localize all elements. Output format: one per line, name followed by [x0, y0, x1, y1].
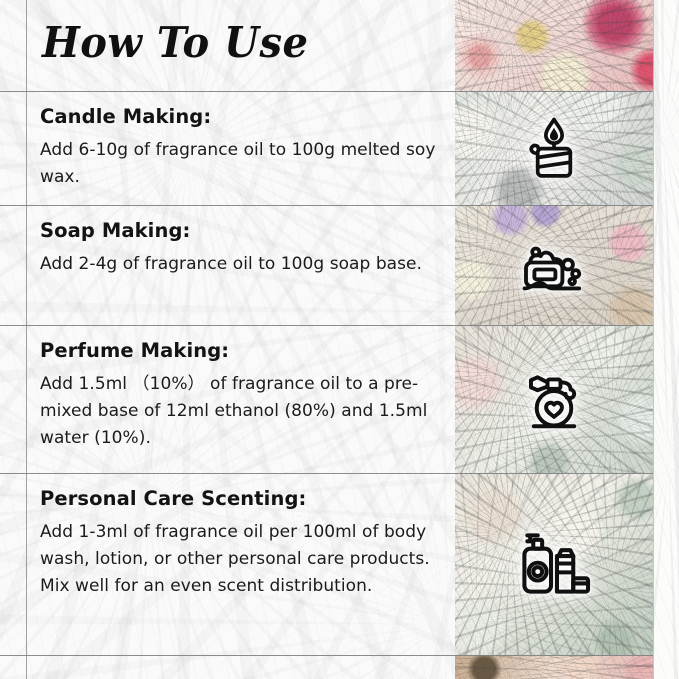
section-body: Add 6-10g of fragrance oil to 100g melte…: [40, 137, 444, 191]
how-to-use-poster: How To Use Candle Making: Add 6-10g of f…: [0, 0, 679, 679]
section-body: Add 1.5ml （10%） of fragrance oil to a pr…: [40, 371, 444, 452]
floral-photo-strip: [455, 0, 653, 679]
section-personal-care-scenting: Personal Care Scenting: Add 1-3ml of fra…: [26, 473, 455, 655]
instructions-column: How To Use Candle Making: Add 6-10g of f…: [26, 0, 455, 679]
section-body: Add 2-4g of fragrance oil to 100g soap b…: [40, 251, 444, 278]
page-title: How To Use: [42, 18, 308, 68]
personal-care-bottles-icon: [511, 519, 597, 605]
photo-cell-roses: [455, 0, 653, 91]
candle-icon: [511, 105, 597, 191]
section-soap-making: Soap Making: Add 2-4g of fragrance oil t…: [26, 205, 455, 325]
floral-art-roses: [455, 0, 653, 91]
right-edge-pattern: [653, 0, 679, 679]
soap-bar-icon: [511, 223, 597, 309]
photo-cell-perfume: [455, 325, 653, 473]
right-vertical-rule: [653, 0, 654, 679]
photo-cell-footer: [455, 655, 653, 679]
section-candle-making: Candle Making: Add 6-10g of fragrance oi…: [26, 91, 455, 205]
photo-cell-personal-care: [455, 473, 653, 655]
photo-cell-soap: [455, 205, 653, 325]
section-body: Add 1-3ml of fragrance oil per 100ml of …: [40, 519, 444, 600]
section-heading: Soap Making:: [40, 219, 190, 242]
photo-cell-candle: [455, 91, 653, 205]
floral-art-footer: [455, 655, 653, 679]
section-heading: Personal Care Scenting:: [40, 487, 306, 510]
section-heading: Perfume Making:: [40, 339, 229, 362]
section-perfume-making: Perfume Making: Add 1.5ml （10%） of fragr…: [26, 325, 455, 473]
title-row: How To Use: [26, 0, 455, 91]
perfume-bottle-icon: [511, 353, 597, 439]
section-heading: Candle Making:: [40, 105, 211, 128]
